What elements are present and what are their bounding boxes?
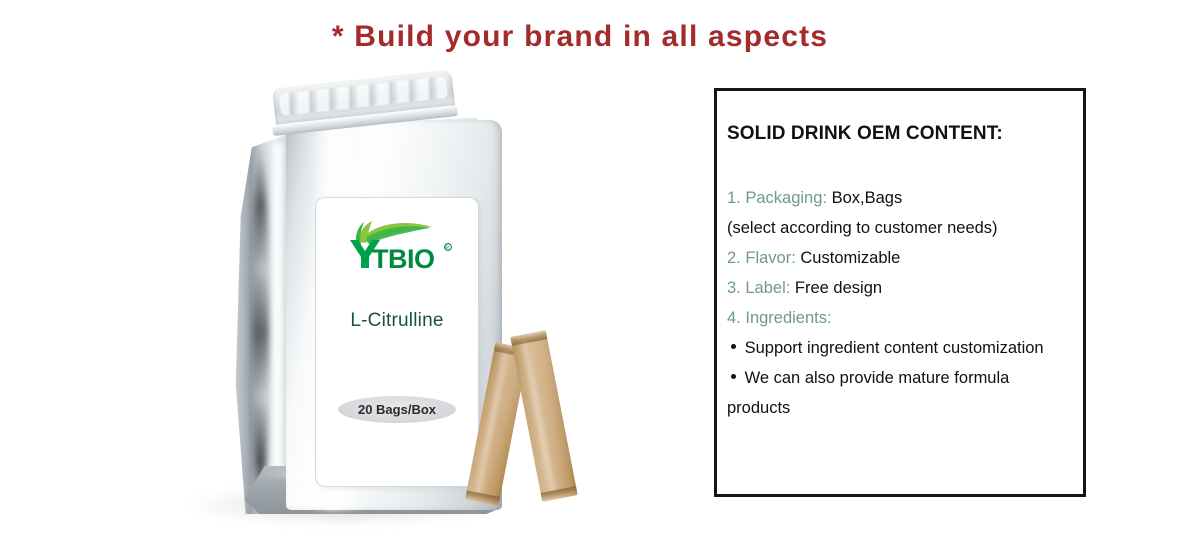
product-name: L-Citrulline bbox=[316, 310, 478, 332]
stick-sachet-right bbox=[510, 330, 577, 502]
quantity-badge-label: 20 Bags/Box bbox=[358, 402, 436, 417]
banner-canvas: * Build your brand in all aspects bbox=[0, 0, 1200, 544]
oem-item-value: Box,Bags bbox=[832, 189, 903, 207]
bullet-dot-icon bbox=[731, 374, 736, 379]
svg-text:R: R bbox=[445, 246, 449, 252]
quantity-badge: 20 Bags/Box bbox=[338, 396, 456, 423]
oem-item-value: Customizable bbox=[800, 249, 900, 267]
svg-text:TBIO: TBIO bbox=[372, 244, 435, 272]
oem-item-key: Flavor: bbox=[745, 249, 795, 267]
brand-logo: TBIO R bbox=[316, 218, 478, 274]
oem-item-number: 3. bbox=[727, 279, 741, 297]
oem-item-ingredients: 4. Ingredients: bbox=[727, 303, 1071, 333]
sachet-highlight bbox=[520, 342, 558, 493]
oem-bullet-wrap-text: products bbox=[727, 393, 1071, 423]
pouch-gusset-highlight bbox=[270, 144, 286, 508]
pouch-gusset-crease bbox=[252, 148, 269, 504]
oem-heading: SOLID DRINK OEM CONTENT: bbox=[727, 123, 1071, 145]
oem-item-flavor: 2. Flavor: Customizable bbox=[727, 243, 1071, 273]
product-label: TBIO R L-Citrulline 20 Bags/Box bbox=[316, 198, 478, 486]
page-title: * Build your brand in all aspects bbox=[0, 20, 1160, 54]
oem-item-number: 2. bbox=[727, 249, 741, 267]
sachet-crimp-bottom bbox=[541, 486, 578, 502]
ytbio-logo-icon: TBIO R bbox=[336, 218, 458, 272]
oem-bullet-item: Support ingredient content customization bbox=[727, 333, 1071, 363]
oem-item-key: Label: bbox=[745, 279, 790, 297]
oem-item-packaging: 1. Packaging: Box,Bags bbox=[727, 183, 1071, 213]
oem-item-key: Packaging: bbox=[745, 189, 827, 207]
oem-content-box: SOLID DRINK OEM CONTENT: 1. Packaging: B… bbox=[714, 88, 1086, 497]
oem-bullet-item: We can also provide mature formula bbox=[727, 363, 1071, 393]
bullet-dot-icon bbox=[731, 344, 736, 349]
oem-item-number: 4. bbox=[727, 309, 741, 327]
oem-bullet-text: We can also provide mature formula bbox=[745, 369, 1010, 387]
oem-item-number: 1. bbox=[727, 189, 741, 207]
oem-packaging-note: (select according to customer needs) bbox=[727, 213, 1071, 243]
oem-item-value: Free design bbox=[795, 279, 882, 297]
product-image: TBIO R L-Citrulline 20 Bags/Box bbox=[170, 60, 590, 520]
oem-bullet-text: Support ingredient content customization bbox=[745, 339, 1044, 357]
oem-item-label: 3. Label: Free design bbox=[727, 273, 1071, 303]
oem-item-key: Ingredients: bbox=[745, 309, 831, 327]
